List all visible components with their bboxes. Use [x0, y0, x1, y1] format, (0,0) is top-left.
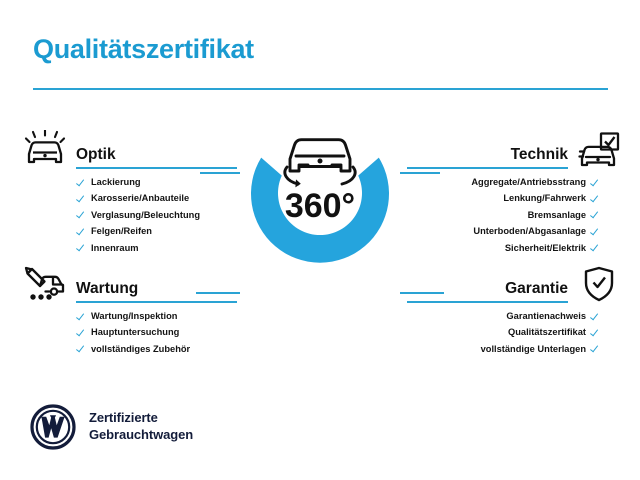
list-item: Qualitätszertifikat [508, 327, 622, 337]
list-item: vollständiges Zubehör [22, 344, 237, 354]
shield-check-icon [576, 264, 622, 304]
list-item-label: vollständige Unterlagen [481, 344, 586, 354]
section-wartung: Wartung Wartung/Inspektion Hauptuntersuc… [22, 262, 237, 360]
section-wartung-header: Wartung [22, 262, 237, 304]
list-item-label: Sicherheit/Elektrik [505, 243, 586, 253]
section-technik-list: Aggregate/Antriebsstrang Lenkung/Fahrwer… [407, 177, 622, 259]
check-icon [591, 178, 600, 187]
list-item-label: Hauptuntersuchung [91, 327, 179, 337]
check-icon [77, 243, 86, 252]
section-technik-title: Technik [407, 146, 568, 167]
car-wrench-icon [22, 264, 68, 304]
check-icon [591, 243, 600, 252]
check-icon [591, 227, 600, 236]
section-optik: Optik Lackierung Karosserie/Anbauteile V… [22, 128, 237, 259]
list-item: Garantienachweis [506, 311, 622, 321]
list-item: Hauptuntersuchung [22, 327, 237, 337]
footer-brand-text: Zertifizierte Gebrauchtwagen [89, 410, 193, 443]
check-icon [591, 328, 600, 337]
section-wartung-divider [76, 301, 237, 303]
check-icon [77, 210, 86, 219]
list-item: Felgen/Reifen [22, 226, 237, 236]
footer-line-1: Zertifizierte [89, 410, 193, 427]
badge-center-label: 360° [285, 187, 355, 225]
car-checkbox-icon [576, 130, 622, 170]
section-garantie: Garantie Garantienachweis Qualitätszerti… [407, 262, 622, 360]
list-item-label: Felgen/Reifen [91, 226, 152, 236]
badge-360-gebrauchtwagen-check: Gebrauchtwagen-Check 360° [223, 113, 417, 307]
list-item-label: Innenraum [91, 243, 139, 253]
section-garantie-divider [407, 301, 568, 303]
list-item: Unterboden/Abgasanlage [473, 226, 622, 236]
list-item: Lackierung [22, 177, 237, 187]
section-technik-divider [407, 167, 568, 169]
section-garantie-title: Garantie [407, 280, 568, 301]
list-item: Karosserie/Anbauteile [22, 193, 237, 203]
list-item: Bremsanlage [528, 210, 622, 220]
list-item: Lenkung/Fahrwerk [503, 193, 622, 203]
list-item-label: Garantienachweis [506, 311, 586, 321]
section-garantie-list: Garantienachweis Qualitätszertifikat vol… [407, 311, 622, 360]
section-wartung-title: Wartung [76, 280, 237, 301]
list-item: Verglasung/Beleuchtung [22, 210, 237, 220]
vw-logo-icon [30, 404, 76, 450]
section-optik-title: Optik [76, 146, 237, 167]
page-title: Qualitätszertifikat [33, 34, 254, 65]
section-technik: Technik Aggregate/Antriebsstrang Lenkung… [407, 128, 622, 259]
list-item: vollständige Unterlagen [481, 344, 622, 354]
list-item: Aggregate/Antriebsstrang [471, 177, 622, 187]
check-icon [591, 312, 600, 321]
section-optik-list: Lackierung Karosserie/Anbauteile Verglas… [22, 177, 237, 253]
check-icon [591, 210, 600, 219]
list-item-label: Verglasung/Beleuchtung [91, 210, 200, 220]
check-icon [77, 227, 86, 236]
list-item-label: Qualitätszertifikat [508, 327, 586, 337]
check-icon [77, 344, 86, 353]
check-icon [591, 194, 600, 203]
list-item: Innenraum [22, 243, 237, 253]
section-optik-header: Optik [22, 128, 237, 170]
check-icon [77, 194, 86, 203]
list-item-label: Karosserie/Anbauteile [91, 193, 189, 203]
list-item-label: Wartung/Inspektion [91, 311, 177, 321]
title-divider [33, 88, 608, 90]
section-technik-header: Technik [407, 128, 622, 170]
list-item-label: Lenkung/Fahrwerk [503, 193, 586, 203]
car-shine-icon [22, 130, 68, 170]
footer-brand: Zertifizierte Gebrauchtwagen [30, 404, 193, 450]
list-item-label: Lackierung [91, 177, 141, 187]
certificate-page: Qualitätszertifikat [0, 0, 640, 480]
list-item-label: Unterboden/Abgasanlage [473, 226, 586, 236]
check-icon [77, 312, 86, 321]
check-icon [77, 328, 86, 337]
footer-line-2: Gebrauchtwagen [89, 427, 193, 444]
car-360-rotation-icon [285, 140, 355, 188]
check-icon [77, 178, 86, 187]
list-item-label: Bremsanlage [528, 210, 586, 220]
section-optik-divider [76, 167, 237, 169]
section-garantie-header: Garantie [407, 262, 622, 304]
check-icon [591, 344, 600, 353]
list-item-label: vollständiges Zubehör [91, 344, 190, 354]
list-item-label: Aggregate/Antriebsstrang [471, 177, 586, 187]
list-item: Sicherheit/Elektrik [505, 243, 622, 253]
list-item: Wartung/Inspektion [22, 311, 237, 321]
section-wartung-list: Wartung/Inspektion Hauptuntersuchung vol… [22, 311, 237, 354]
